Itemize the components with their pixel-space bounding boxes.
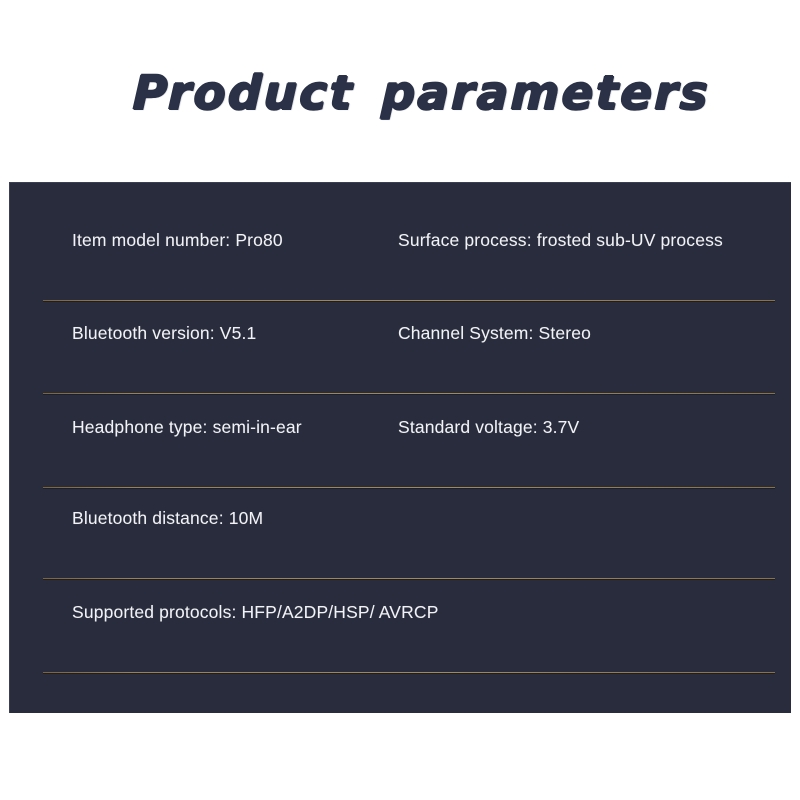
table-row: Bluetooth version: V5.1 Channel System: … [10, 300, 791, 394]
row-divider [43, 672, 775, 673]
spec-surface-process: Surface process: frosted sub-UV process [398, 228, 723, 252]
spec-headphone-type: Headphone type: semi-in-ear [72, 415, 302, 439]
spec-channel-system: Channel System: Stereo [398, 321, 591, 345]
table-row: Headphone type: semi-in-ear Standard vol… [10, 394, 791, 488]
spec-bluetooth-version: Bluetooth version: V5.1 [72, 321, 256, 345]
title-area: Product parameters [0, 66, 800, 136]
spec-item-model-number: Item model number: Pro80 [72, 228, 283, 252]
product-parameters-panel: Item model number: Pro80 Surface process… [9, 182, 791, 713]
spec-supported-protocols: Supported protocols: HFP/A2DP/HSP/ AVRCP [72, 600, 439, 624]
table-row: Item model number: Pro80 Surface process… [10, 207, 791, 301]
spec-standard-voltage: Standard voltage: 3.7V [398, 415, 579, 439]
table-row: Bluetooth distance: 10M [10, 485, 791, 579]
spec-bluetooth-distance: Bluetooth distance: 10M [72, 506, 263, 530]
page-title: Product parameters [132, 66, 711, 122]
table-row: Supported protocols: HFP/A2DP/HSP/ AVRCP [10, 579, 791, 673]
spec-table: Item model number: Pro80 Surface process… [10, 183, 791, 713]
